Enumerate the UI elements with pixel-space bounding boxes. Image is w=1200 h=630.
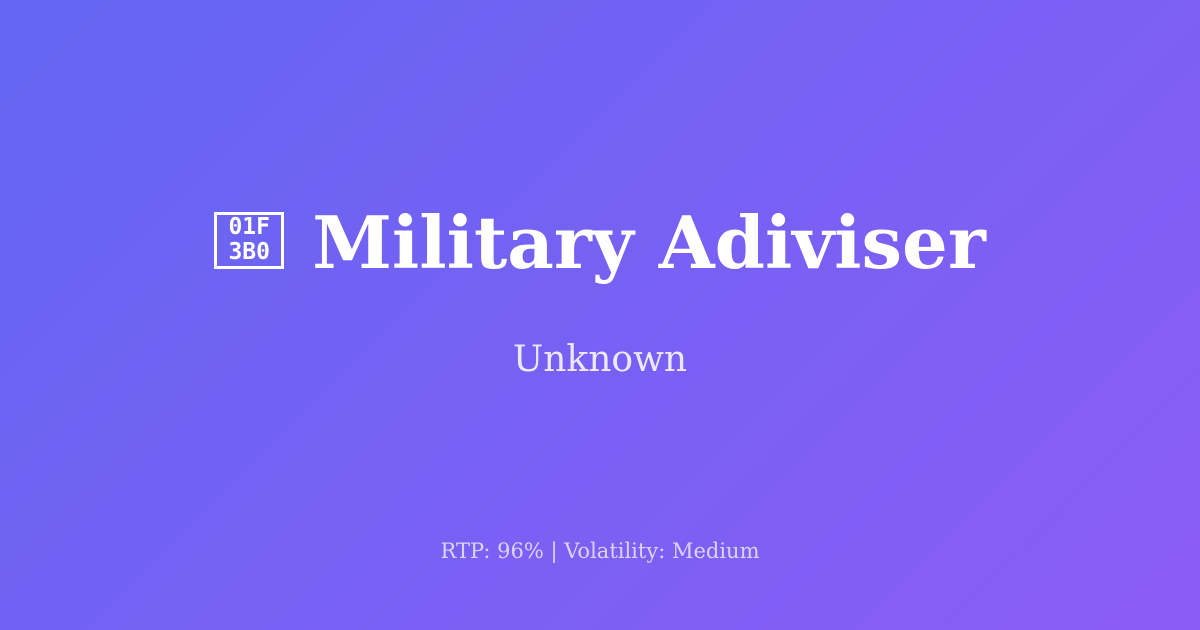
slot-machine-icon: 01F 3B0 [214,212,284,269]
game-og-card: 01F 3B0 Military Adiviser Unknown RTP: 9… [0,0,1200,630]
slot-machine-icon-codepoint-bottom: 3B0 [228,240,270,265]
page-title: Military Adiviser [312,205,986,281]
card-center-stack: 01F 3B0 Military Adiviser Unknown [0,205,1200,382]
game-meta-line: RTP: 96% | Volatility: Medium [0,539,1200,564]
page-subtitle: Unknown [513,338,687,381]
title-row: 01F 3B0 Military Adiviser [60,205,1140,281]
slot-machine-icon-codepoint-top: 01F [228,215,270,240]
